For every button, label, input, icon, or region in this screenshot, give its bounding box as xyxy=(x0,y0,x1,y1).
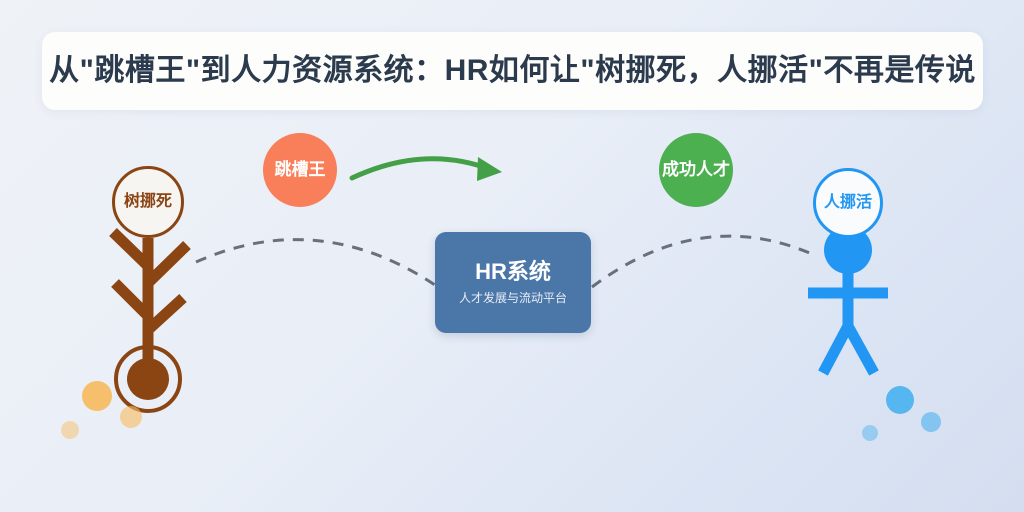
node-person-text: 人挪活 xyxy=(824,194,872,212)
node-successful-talent-text: 成功人才 xyxy=(662,161,730,180)
hr-system-subtitle: 人才发展与流动平台 xyxy=(459,292,567,304)
page-title: 从"跳槽王"到人力资源系统：HR如何让"树挪死，人挪活"不再是传说 xyxy=(49,56,976,86)
node-job-hopper-text: 跳槽王 xyxy=(275,161,326,180)
left-dashed-arc xyxy=(196,240,438,287)
decor-dot-orange-2 xyxy=(120,406,142,428)
node-job-hopper[interactable]: 跳槽王 xyxy=(263,133,337,207)
hr-system-box[interactable]: HR系统 人才发展与流动平台 xyxy=(435,232,591,333)
right-decor-dots xyxy=(862,386,941,441)
stick-figure-icon xyxy=(808,272,888,373)
decor-dot-orange-3 xyxy=(61,421,79,439)
node-successful-talent[interactable]: 成功人才 xyxy=(659,133,733,207)
dead-tree-icon xyxy=(113,232,187,372)
hr-system-title: HR系统 xyxy=(475,261,551,283)
decor-dot-blue-3 xyxy=(862,425,878,441)
left-decor-dots xyxy=(61,381,142,439)
infographic-canvas: 从"跳槽王"到人力资源系统：HR如何让"树挪死，人挪活"不再是传说 树挪死 跳槽… xyxy=(0,0,1024,512)
decor-dot-orange-1 xyxy=(82,381,112,411)
title-card: 从"跳槽王"到人力资源系统：HR如何让"树挪死，人挪活"不再是传说 xyxy=(42,32,983,110)
node-person-label[interactable]: 人挪活 xyxy=(813,168,883,238)
right-dashed-arc xyxy=(592,236,812,287)
decor-dot-blue-1 xyxy=(886,386,914,414)
decor-dot-blue-2 xyxy=(921,412,941,432)
node-tree-text: 树挪死 xyxy=(124,193,172,211)
flow-arrow-icon xyxy=(352,157,502,181)
node-tree-label[interactable]: 树挪死 xyxy=(112,166,184,238)
